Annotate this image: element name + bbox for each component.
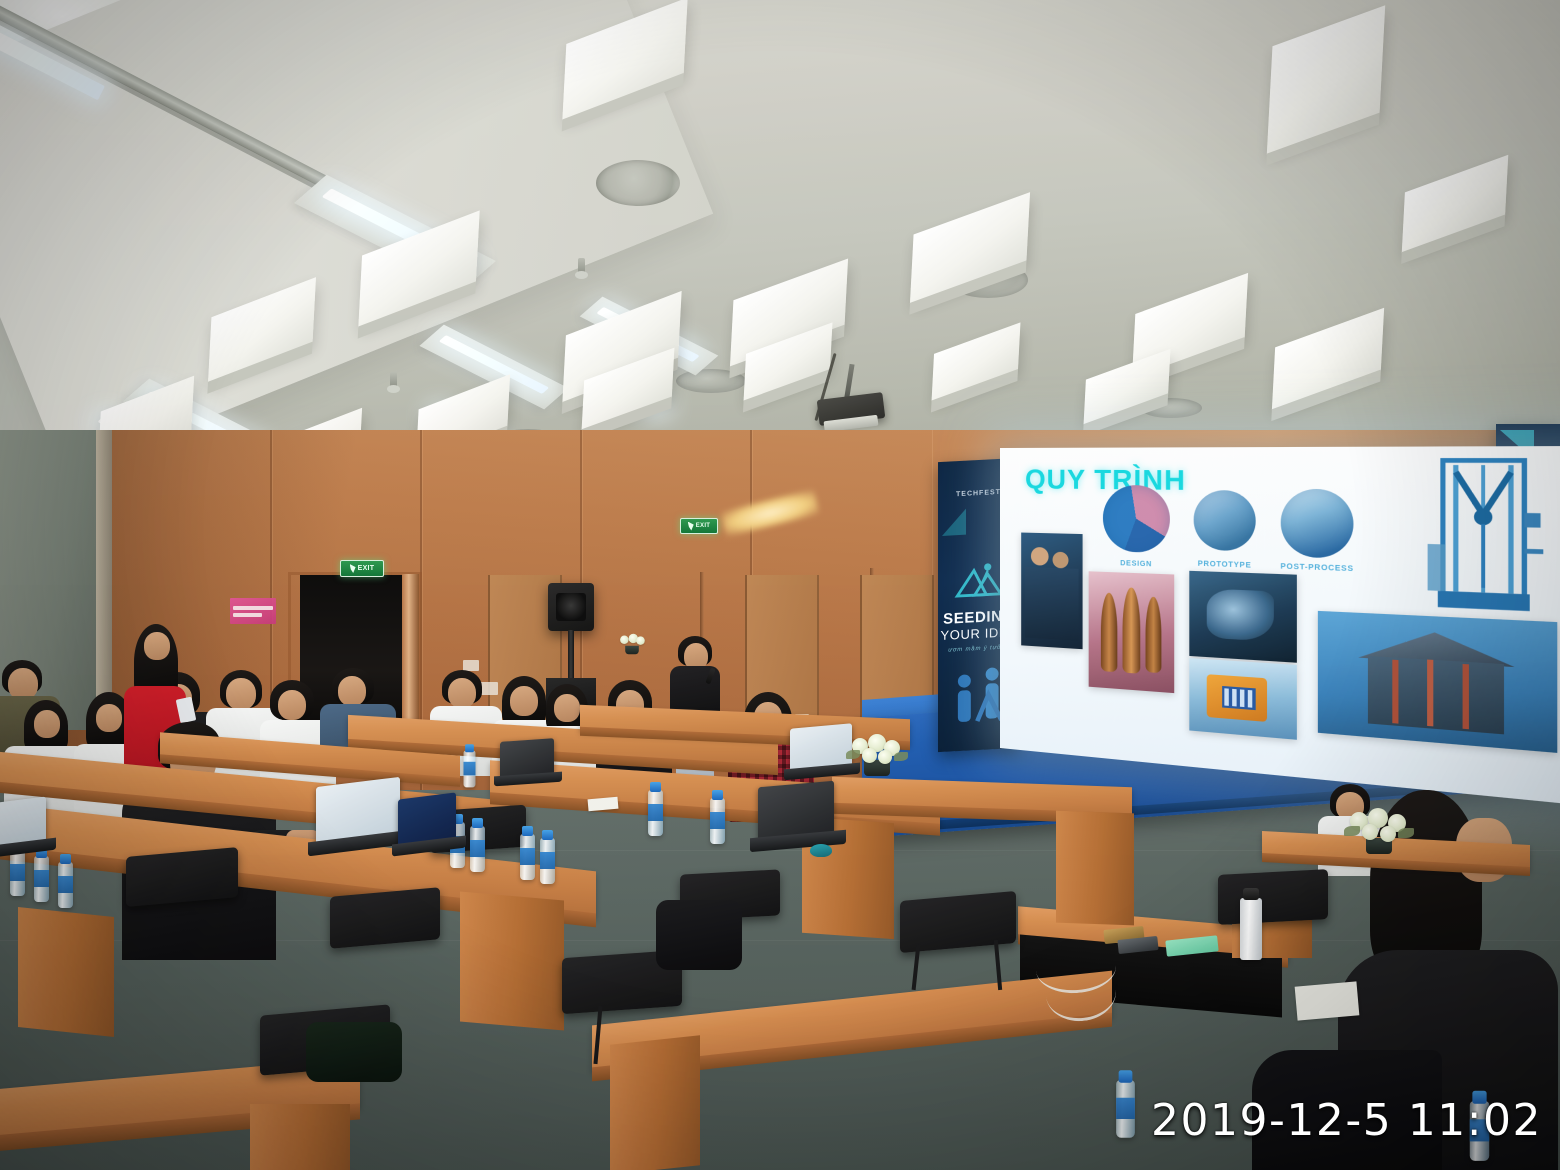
- speaker-stand: [568, 630, 574, 682]
- desk-leg: [18, 907, 114, 1037]
- slide-image-3d-printer: [1422, 448, 1546, 628]
- loudspeaker-icon: [548, 583, 594, 631]
- water-bottle: [34, 856, 49, 902]
- exit-sign-label: EXIT: [696, 523, 711, 529]
- computer-mouse[interactable]: [810, 844, 832, 857]
- desk-leg: [250, 1104, 350, 1170]
- desk-leg: [460, 891, 564, 1030]
- flower-arrangement: [1344, 806, 1414, 854]
- banner-triangle-icon: [942, 509, 966, 536]
- desk-leg: [1056, 811, 1134, 926]
- slide-image-trophies: [1089, 571, 1175, 693]
- water-bottle: [520, 834, 535, 880]
- slide-circle-design: [1103, 485, 1170, 553]
- laptop[interactable]: [398, 796, 456, 842]
- conference-hall-photo: EXIT EXIT TECHFEST SEEDING YOUR IDEA ươm…: [0, 0, 1560, 1170]
- chair[interactable]: [1218, 869, 1328, 925]
- air-vent-icon: [596, 160, 680, 206]
- sprinkler-icon: [578, 258, 585, 274]
- ceiling-baffle: [1272, 308, 1384, 411]
- door-leaf[interactable]: [402, 574, 419, 736]
- exit-sign: EXIT: [340, 560, 384, 577]
- flower-arrangement: [618, 634, 645, 654]
- flower-arrangement: [846, 732, 908, 776]
- step-label-postprocess: POST-PROCESS: [1269, 563, 1365, 574]
- laptop[interactable]: [316, 782, 400, 838]
- chair[interactable]: [126, 847, 238, 907]
- banner-brand: TECHFEST: [956, 489, 1001, 498]
- paper-sheet: [1295, 981, 1360, 1020]
- exit-sign-label: EXIT: [358, 565, 375, 572]
- step-label-design: DESIGN: [1099, 559, 1174, 569]
- slide-image-award-ceremony: [1021, 533, 1082, 650]
- water-bottle: [464, 751, 476, 788]
- slide-circle-postprocess: [1281, 489, 1354, 559]
- laptop[interactable]: [500, 740, 554, 776]
- water-bottle: [710, 798, 725, 844]
- water-bottle: [540, 838, 555, 884]
- ceiling-baffle: [1402, 155, 1509, 253]
- water-bottle: [58, 862, 73, 908]
- wall-notice-sign: [230, 598, 276, 624]
- sprinkler-icon: [390, 372, 397, 388]
- water-bottle: [470, 826, 485, 872]
- running-man-icon: [688, 522, 694, 531]
- backpack: [656, 900, 742, 970]
- water-bottle: [1116, 1080, 1135, 1138]
- chair[interactable]: [330, 887, 440, 949]
- step-label-prototype: PROTOTYPE: [1187, 560, 1262, 570]
- backpack: [306, 1022, 402, 1082]
- laptop[interactable]: [790, 726, 852, 768]
- laptop[interactable]: [758, 784, 834, 836]
- slide-circle-prototype: [1194, 490, 1256, 551]
- slide-image-orange-model: [1189, 658, 1297, 740]
- ceiling-baffle: [932, 322, 1021, 401]
- slide-title: QUY TRÌNH: [1025, 464, 1186, 497]
- slide-image-metal-sculpture: [1189, 571, 1297, 663]
- water-bottle: [648, 790, 663, 836]
- water-bottle: [10, 850, 25, 896]
- slide-image-pavilion: [1318, 611, 1557, 753]
- wall-switch-plate[interactable]: [480, 682, 498, 695]
- desk-leg: [610, 1035, 700, 1170]
- exit-sign: EXIT: [680, 518, 718, 534]
- ceiling-baffle: [1267, 5, 1385, 155]
- laptop[interactable]: [0, 800, 46, 844]
- camera-timestamp: 2019-12-5 11:02: [1151, 1095, 1542, 1146]
- wall-column-trim: [96, 430, 112, 730]
- running-man-icon: [350, 564, 356, 573]
